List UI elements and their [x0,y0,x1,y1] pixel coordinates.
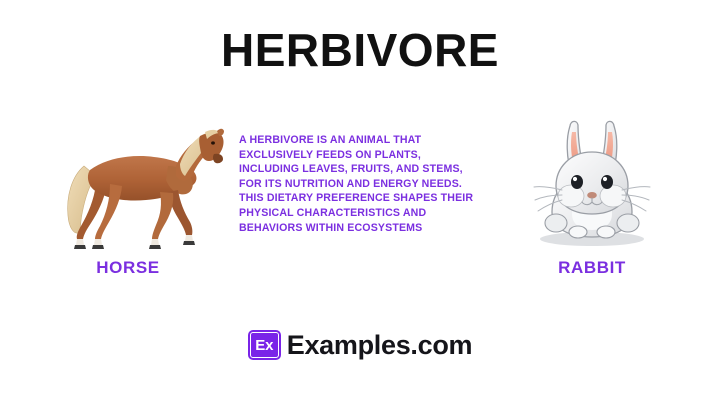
logo-badge-border: Ex [250,332,279,358]
rabbit-illustration [492,110,692,242]
description-line: EXCLUSIVELY FEEDS ON PLANTS, [239,148,523,163]
example-card-rabbit: RABBIT [492,110,692,288]
infographic-page: HERBIVORE [0,0,720,404]
example-label-horse: HORSE [28,258,228,278]
brand-name: Examples.com [287,332,473,359]
description-line: INCLUDING LEAVES, FRUITS, AND STEMS, [239,162,523,177]
description-line: FOR ITS NUTRITION AND ENERGY NEEDS. [239,177,523,192]
horse-illustration [28,118,228,250]
description-line: PHYSICAL CHARACTERISTICS AND [239,206,523,221]
page-title: HERBIVORE [0,27,720,73]
description-line: THIS DIETARY PREFERENCE SHAPES THEIR [239,191,523,206]
logo-badge-text: Ex [255,338,273,353]
description-line: BEHAVIORS WITHIN ECOSYSTEMS [239,221,523,236]
description-text: A HERBIVORE IS AN ANIMAL THAT EXCLUSIVEL… [239,133,523,235]
description-line: A HERBIVORE IS AN ANIMAL THAT [239,133,523,148]
example-label-rabbit: RABBIT [492,258,692,278]
logo-badge-icon: Ex [248,330,281,360]
site-logo[interactable]: Ex Examples.com [0,330,720,360]
example-card-horse: HORSE [28,118,228,288]
